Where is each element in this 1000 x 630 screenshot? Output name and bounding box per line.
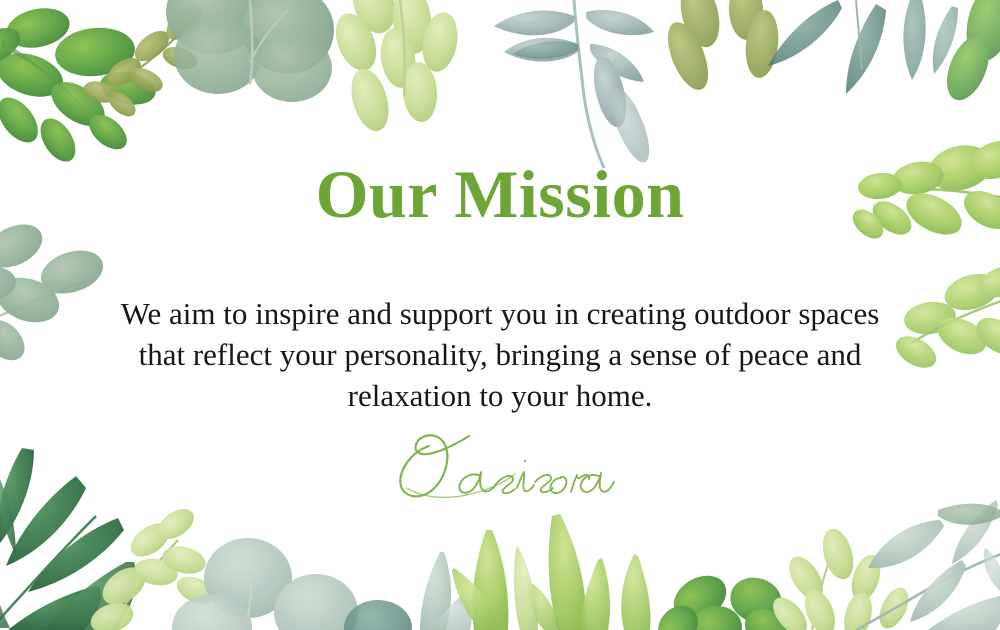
- card-content: Our Mission We aim to inspire and suppor…: [0, 0, 1000, 630]
- page-title: Our Mission: [0, 160, 1000, 228]
- signature-oasisora-script: Oasisora: [385, 428, 615, 506]
- brand-signature: Oasisora: [0, 428, 1000, 508]
- mission-card: Our Mission We aim to inspire and suppor…: [0, 0, 1000, 630]
- mission-statement: We aim to inspire and support you in cre…: [105, 293, 895, 416]
